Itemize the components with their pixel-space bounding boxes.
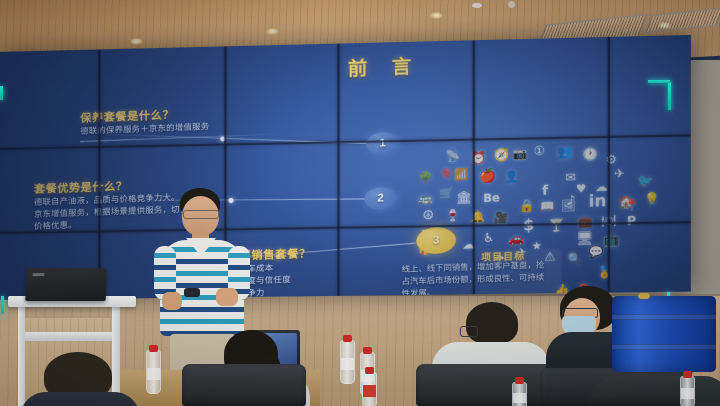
laptop-logo bbox=[32, 273, 44, 276]
bottle-cap bbox=[683, 371, 692, 378]
panel-bezel-vertical bbox=[608, 37, 610, 293]
oil-drum bbox=[612, 296, 716, 372]
audience-center-hair bbox=[466, 302, 518, 344]
drum-rib bbox=[612, 344, 716, 350]
podium-shelf bbox=[22, 332, 120, 341]
presenter-hand-left bbox=[162, 292, 182, 310]
screen-vignette bbox=[0, 35, 691, 300]
audience-chair-1[interactable] bbox=[182, 364, 306, 406]
bottle-label bbox=[341, 358, 354, 370]
presenter-clicker[interactable] bbox=[184, 288, 200, 297]
water-bottle[interactable] bbox=[362, 372, 377, 406]
wall-edge-light-top bbox=[648, 80, 670, 83]
wall-edge-light-left bbox=[0, 86, 3, 100]
water-bottle[interactable] bbox=[680, 376, 695, 406]
panel-bezel-vertical bbox=[473, 40, 475, 294]
presenter-glasses bbox=[183, 210, 219, 219]
presentation-room-scene: 前 言 ⏰ 🧭 📷 ① 👥 🕐 ⚙ 📶 🍎 👤 ✉ ✈ 🐦 ♥ ☁ 🏛 Be f… bbox=[0, 0, 720, 406]
audience-chair-3[interactable] bbox=[540, 368, 690, 406]
wall-edge-light-lower bbox=[1, 296, 4, 314]
bottle-label bbox=[513, 393, 526, 403]
bottle-cap bbox=[365, 367, 374, 374]
water-bottle[interactable] bbox=[512, 382, 527, 406]
ceiling-downlight bbox=[130, 38, 143, 45]
water-bottle[interactable] bbox=[146, 350, 161, 394]
presenter-hand-right bbox=[216, 288, 238, 306]
water-bottle[interactable] bbox=[340, 340, 355, 384]
smoke-detector bbox=[508, 1, 515, 8]
drum-rib bbox=[612, 314, 716, 320]
ceiling-downlight bbox=[430, 12, 443, 19]
audience-left-body bbox=[20, 392, 140, 406]
audience-chair-2[interactable] bbox=[416, 364, 552, 406]
led-video-wall[interactable]: 前 言 ⏰ 🧭 📷 ① 👥 🕐 ⚙ 📶 🍎 👤 ✉ ✈ 🐦 ♥ ☁ 🏛 Be f… bbox=[0, 35, 691, 300]
wall-edge-light-right bbox=[668, 82, 671, 110]
panel-bezel-vertical bbox=[98, 49, 100, 298]
smoke-detector bbox=[472, 3, 482, 8]
bottle-label bbox=[363, 385, 376, 397]
bottle-label bbox=[681, 388, 694, 399]
ceiling-downlight bbox=[266, 28, 279, 35]
podium-laptop[interactable] bbox=[25, 268, 106, 301]
audience-center-glasses bbox=[460, 326, 478, 337]
bottle-cap bbox=[363, 347, 372, 354]
drum-cap bbox=[638, 293, 650, 299]
panel-bezel-vertical bbox=[337, 44, 339, 296]
bottle-cap bbox=[515, 377, 524, 384]
bottle-cap bbox=[343, 335, 352, 342]
audience-member-left bbox=[20, 352, 140, 406]
bottle-cap bbox=[149, 345, 158, 352]
bottle-label bbox=[147, 368, 160, 380]
